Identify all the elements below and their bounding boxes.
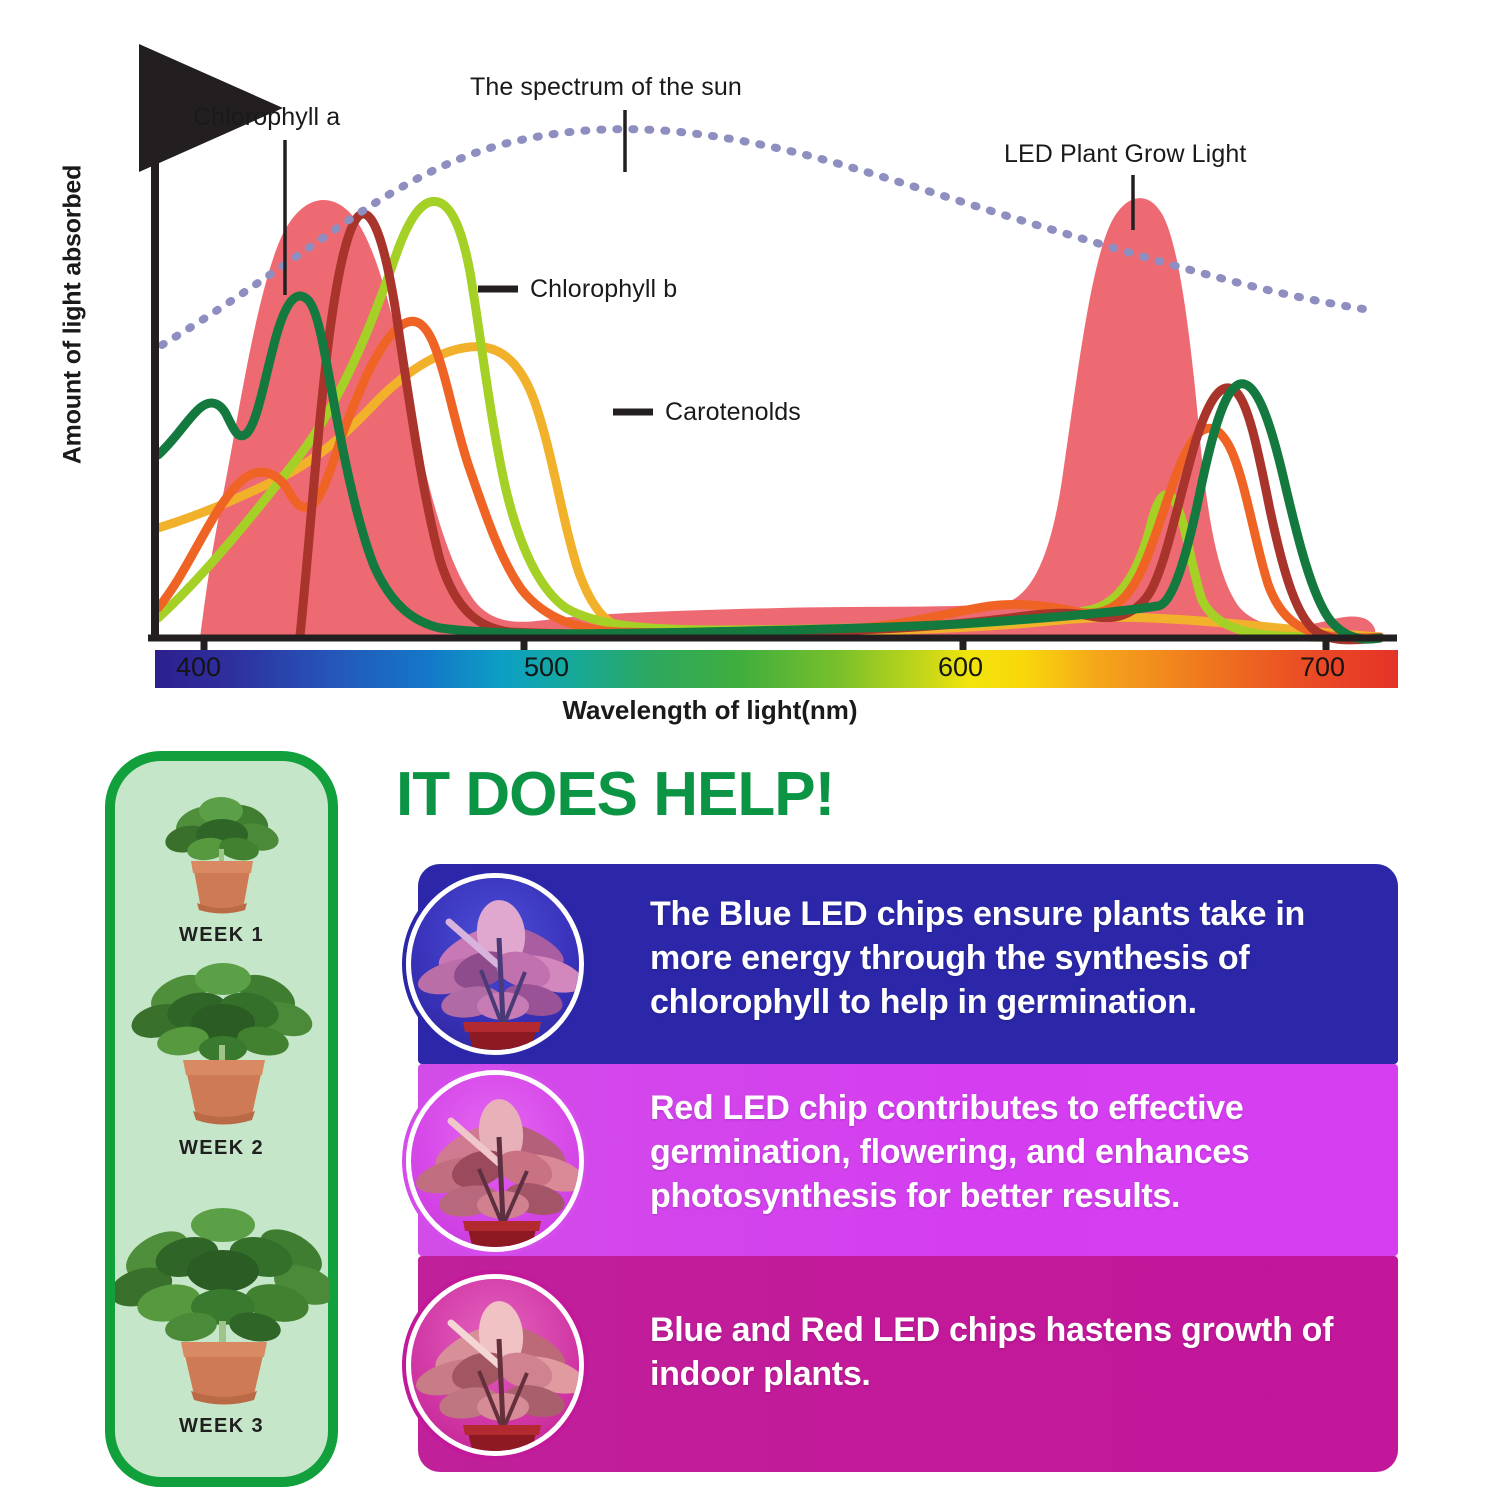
x-tick-label-400: 400 — [176, 652, 221, 683]
annotation-led-grow-light: LED Plant Grow Light — [1004, 140, 1246, 169]
page-headline: IT DOES HELP! — [396, 759, 834, 830]
week-label-1: WEEK 1 — [115, 924, 328, 947]
info-box-text-blue-led: The Blue LED chips ensure plants take in… — [650, 892, 1370, 1025]
absorption-spectrum-chart: 400 500 600 700 Amount of light absorbed… — [0, 0, 1500, 745]
plant-photo-week-1 — [147, 783, 297, 918]
y-axis-title: Amount of light absorbed — [59, 150, 88, 480]
annotation-chlorophyll-b: Chlorophyll b — [530, 275, 677, 304]
info-box-text-blue-red-led: Blue and Red LED chips hastens growth of… — [650, 1308, 1370, 1396]
week-item-3: WEEK 3 — [115, 1201, 328, 1438]
week-label-2: WEEK 2 — [115, 1137, 328, 1160]
infographic-page: 400 500 600 700 Amount of light absorbed… — [0, 0, 1500, 1501]
week-label-3: WEEK 3 — [115, 1415, 328, 1438]
visible-spectrum-bar — [155, 650, 1398, 688]
week-item-1: WEEK 1 — [115, 783, 328, 947]
plant-under-red-light-photo — [406, 1070, 584, 1252]
plant-photo-week-2 — [127, 953, 317, 1133]
annotation-carotenoids: Carotenolds — [665, 398, 801, 427]
x-tick-label-500: 500 — [524, 652, 569, 683]
x-axis-title: Wavelength of light(nm) — [400, 695, 1020, 726]
info-box-text-red-led: Red LED chip contributes to effective ge… — [650, 1086, 1370, 1219]
y-axis-arrowhead — [143, 86, 167, 124]
info-box-blue-red-led[interactable]: Blue and Red LED chips hastens growth of… — [418, 1256, 1398, 1472]
x-tick-label-700: 700 — [1300, 652, 1345, 683]
growth-timeline-panel: WEEK 1 — [105, 751, 338, 1487]
annotation-sun-spectrum: The spectrum of the sun — [470, 73, 742, 102]
info-box-red-led[interactable]: Red LED chip contributes to effective ge… — [418, 1064, 1398, 1256]
info-box-blue-led[interactable]: The Blue LED chips ensure plants take in… — [418, 864, 1398, 1064]
plant-under-blue-red-light-photo — [406, 1274, 584, 1456]
plant-under-blue-light-photo — [406, 873, 584, 1055]
plant-photo-week-3 — [115, 1201, 330, 1413]
week-item-2: WEEK 2 — [115, 953, 328, 1160]
annotation-chlorophyll-a: Chlorophyll a — [193, 103, 340, 132]
x-tick-label-600: 600 — [938, 652, 983, 683]
